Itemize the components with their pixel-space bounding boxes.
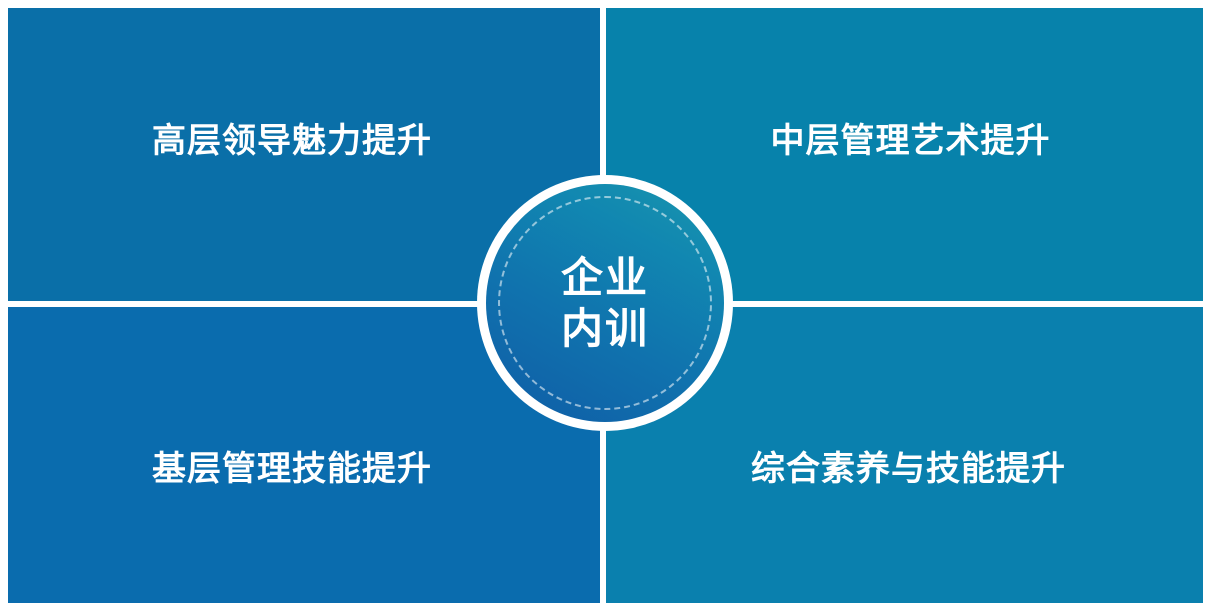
hub-text-line-2: 内训	[561, 306, 649, 351]
infographic-canvas: 高层领导魅力提升 中层管理艺术提升 基层管理技能提升 综合素养与技能提升 企业 …	[0, 0, 1211, 611]
hub-text-line-1: 企业	[561, 255, 649, 300]
quadrant-bottom-right-label: 综合素养与技能提升	[751, 452, 1066, 486]
center-hub[interactable]: 企业 内训	[477, 175, 733, 431]
quadrant-bottom-left-label: 基层管理技能提升	[152, 452, 432, 486]
quadrant-top-left-label: 高层领导魅力提升	[152, 124, 432, 158]
quadrant-top-right-label: 中层管理艺术提升	[771, 124, 1051, 158]
hub-text: 企业 内训	[477, 175, 733, 431]
